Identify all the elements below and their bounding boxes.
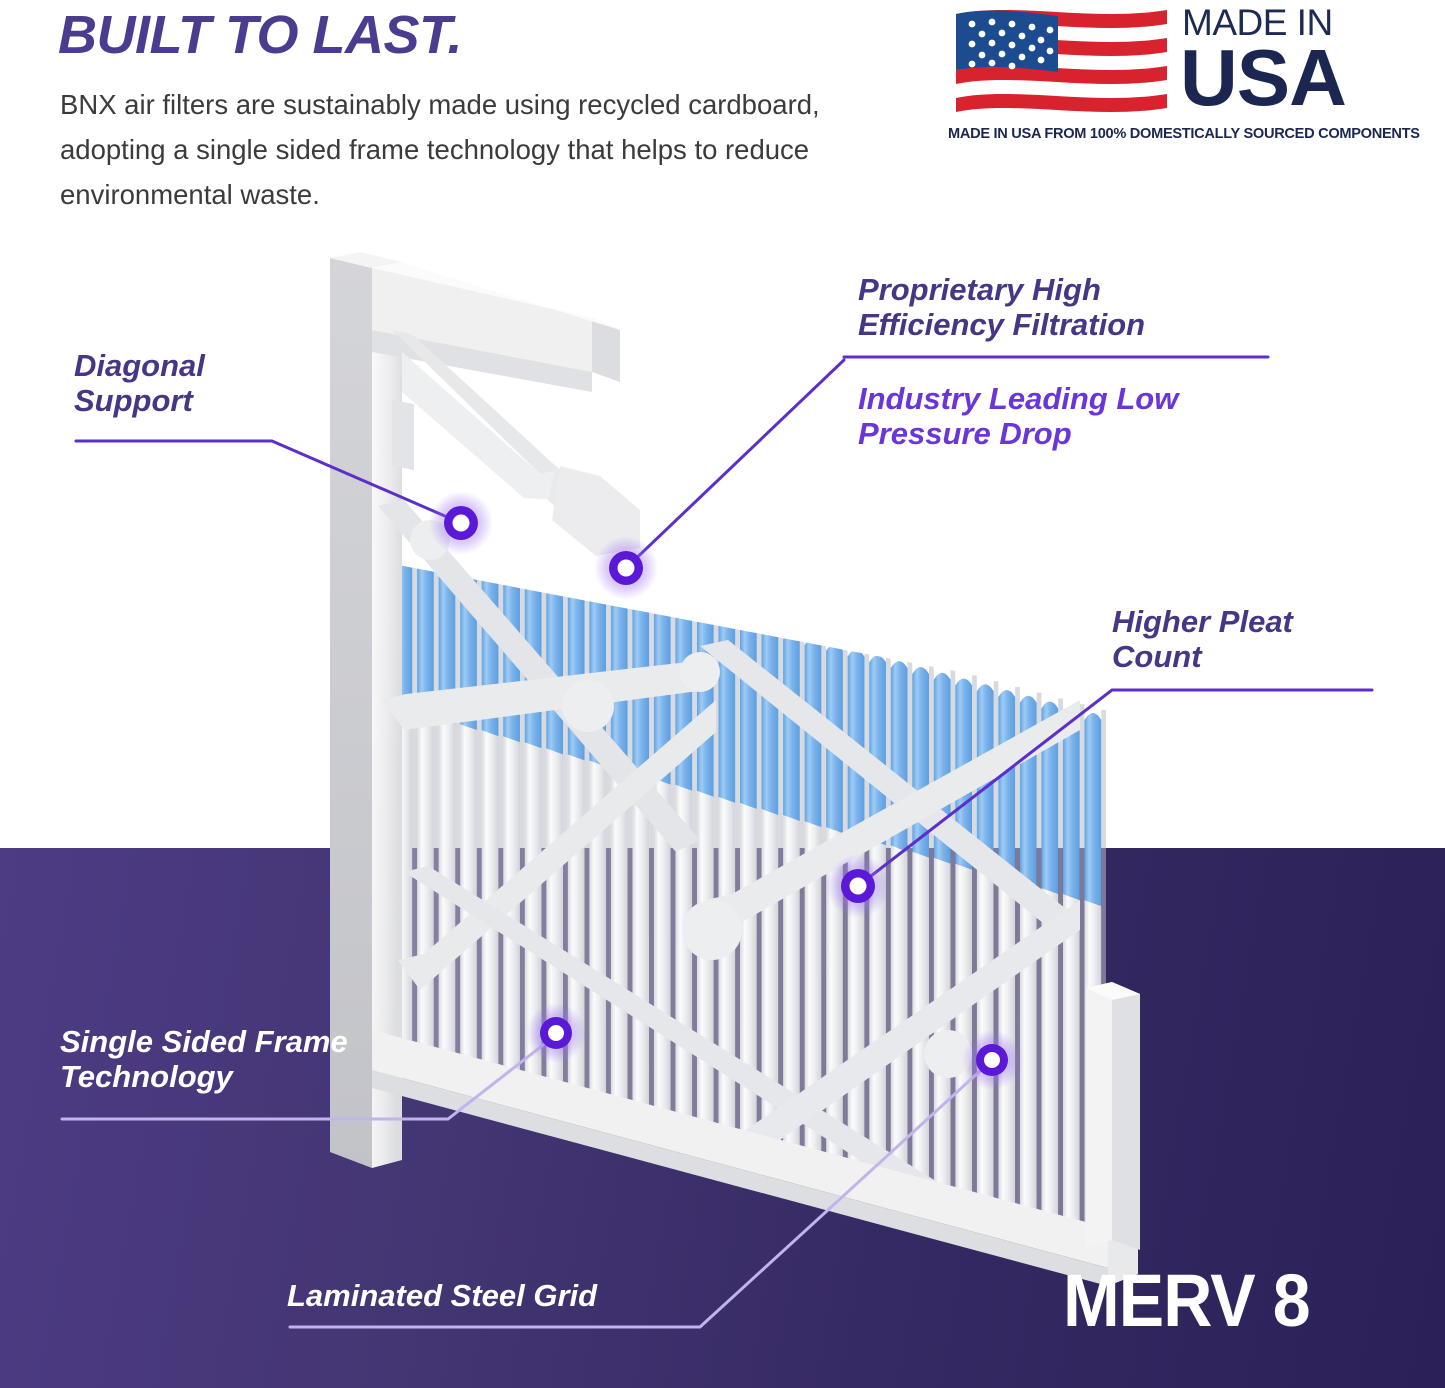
callout-proprietary-filtration-label: Proprietary High Efficiency Filtration [858,272,1145,342]
pleat-fin-white [891,845,908,1188]
pleat-fin-blue [998,690,1015,882]
callout-higher-pleat-count-label: Higher Pleat Count [1112,604,1293,674]
callout-laminated-steel-grid: Laminated Steel Grid [287,1278,597,1313]
pleat-fin-blue [697,609,714,797]
callout-laminated-steel-grid-label: Laminated Steel Grid [287,1278,597,1313]
pleat-fin-white [697,791,714,1134]
callout-low-pressure-drop-label: Industry Leading Low Pressure Drop [858,381,1178,451]
pleat-fin-white [1063,894,1080,1236]
callout-diagonal-support: Diagonal Support [74,348,205,418]
made-in-usa-wordmark: MADE IN USA [1180,2,1346,116]
domestic-components-note: MADE IN USA FROM 100% DOMESTICALLY SOURC… [948,126,1418,142]
pleat-fin-blue [546,569,563,754]
marker-single-sided-frame [526,1003,586,1063]
callout-proprietary-filtration: Proprietary High Efficiency Filtration [858,272,1145,342]
pleat-fin-blue [1084,713,1101,906]
marker-higher-pleat-count [826,854,890,918]
pleat-fin-blue [762,627,779,815]
marker-diagonal-support [429,491,493,555]
callout-single-sided-frame: Single Sided Frame Technology [60,1024,348,1094]
marker-low-pressure-drop [594,536,658,600]
usa-flag-icon [954,6,1169,121]
callout-diagonal-support-label: Diagonal Support [74,348,205,418]
infographic-canvas: BUILT TO LAST. BNX air filters are susta… [0,0,1445,1388]
pleat-fin-blue [1020,696,1037,888]
pleat-fin-white [718,797,735,1140]
usa-label: USA [1180,40,1346,116]
merv-rating: MERV 8 [1063,1258,1310,1343]
callout-low-pressure-drop: Industry Leading Low Pressure Drop [858,381,1178,451]
marker-laminated-steel-grid [962,1030,1022,1090]
page-headline: BUILT TO LAST. [58,4,462,66]
pleat-fin-white [632,773,649,1116]
page-subcopy: BNX air filters are sustainably made usi… [60,82,860,217]
pleat-fin-white [740,803,757,1146]
leader-low-pressure-drop [626,360,844,568]
pleat-fin-blue [783,632,800,821]
callout-single-sided-frame-label: Single Sided Frame Technology [60,1024,348,1094]
made-in-usa-badge: MADE IN USA MADE IN USA FROM 100% DOMEST… [948,2,1418,147]
callout-higher-pleat-count: Higher Pleat Count [1112,604,1293,674]
pleat-fin-blue [740,621,757,809]
